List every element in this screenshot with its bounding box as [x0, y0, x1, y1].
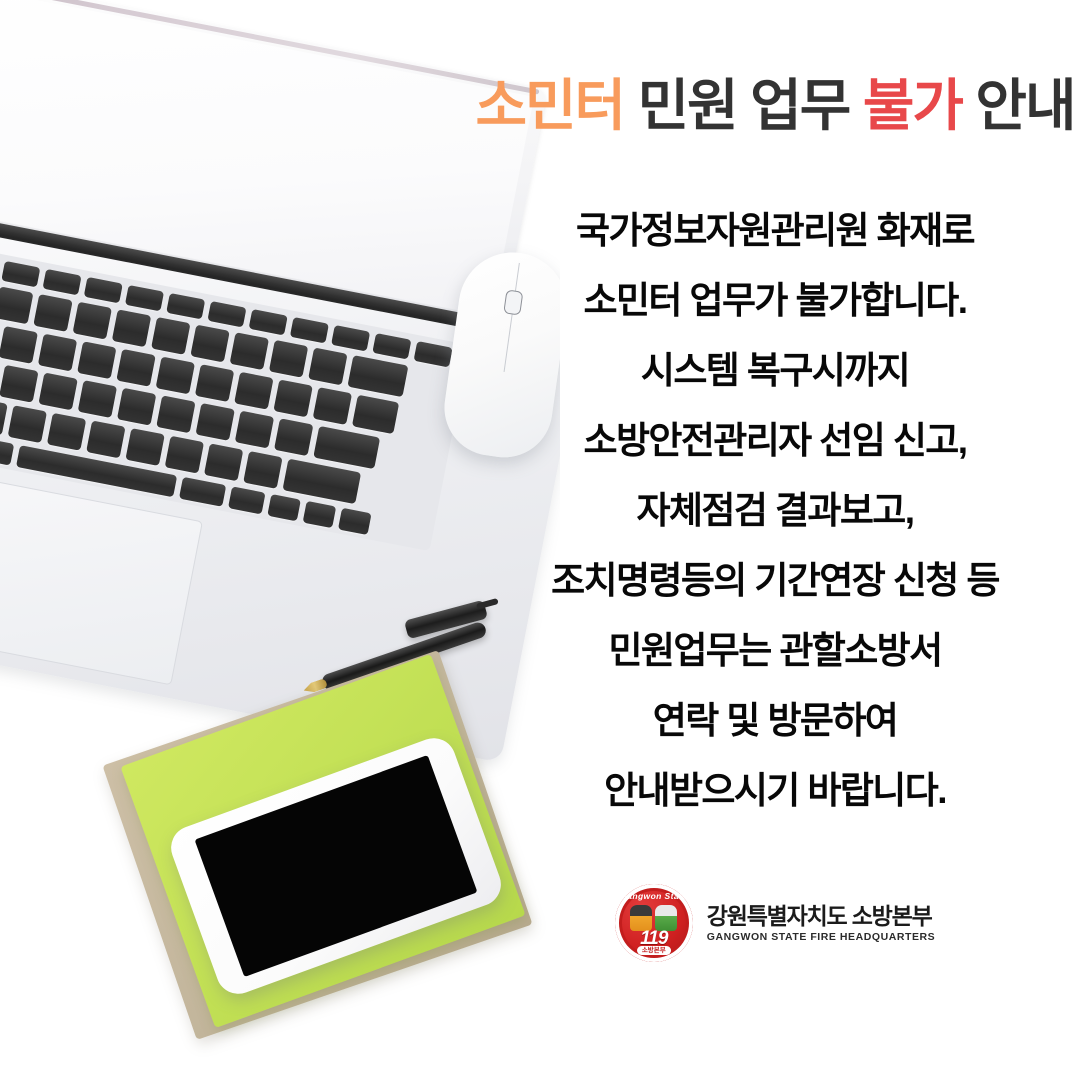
key — [125, 428, 164, 466]
agency-logo: Gangwon State 119 소방본부 강원특별자치도 소방본부 GANG… — [470, 884, 1080, 962]
fire-department-emblem-icon: Gangwon State 119 소방본부 — [615, 884, 693, 962]
title-segment-orange: 소민터 — [476, 74, 625, 137]
option-key — [228, 486, 266, 514]
key — [151, 317, 190, 355]
key — [165, 436, 204, 474]
agency-name-kr: 강원특별자치도 소방본부 — [707, 902, 935, 930]
key — [273, 379, 312, 417]
power-key — [414, 341, 453, 368]
key — [33, 294, 72, 332]
key — [249, 309, 288, 336]
key — [38, 372, 77, 410]
notice-line: 국가정보자원관리원 화재로 — [470, 196, 1080, 266]
notice-line: 소민터 업무가 불가합니다. — [470, 266, 1080, 336]
notice-line: 조치명령등의 기간연장 신청 등 — [470, 546, 1080, 616]
key — [125, 285, 164, 312]
agency-name-block: 강원특별자치도 소방본부 GANGWON STATE FIRE HEADQUAR… — [707, 902, 935, 945]
notice-line: 자체점검 결과보고, — [470, 476, 1080, 546]
key — [0, 398, 8, 436]
notice-line: 안내받으시기 바랍니다. — [470, 756, 1080, 826]
arrow-updown-key — [303, 501, 337, 528]
key — [166, 293, 205, 320]
shift-key — [282, 459, 361, 505]
arrow-left-key — [267, 494, 301, 521]
key — [156, 357, 195, 395]
key — [1, 261, 40, 288]
delete-key — [347, 355, 408, 397]
key — [86, 420, 125, 458]
notice-line: 시스템 복구시까지 — [470, 336, 1080, 406]
notice-line: 연락 및 방문하여 — [470, 686, 1080, 756]
key — [116, 349, 155, 387]
agency-name-en: GANGWON STATE FIRE HEADQUARTERS — [707, 930, 935, 945]
key — [38, 334, 77, 372]
key — [190, 325, 229, 363]
notice-line: 소방안전관리자 선임 신고, — [470, 406, 1080, 476]
key — [117, 388, 156, 426]
poster-canvas: 소민터 민원 업무 불가 안내 국가정보자원관리원 화재로 소민터 업무가 불가… — [0, 0, 1080, 1080]
key — [195, 364, 234, 402]
key — [195, 403, 234, 441]
key — [274, 418, 313, 456]
notice-line: 민원업무는 관할소방서 — [470, 616, 1080, 686]
page-title: 소민터 민원 업무 불가 안내 — [470, 78, 1080, 134]
key — [0, 365, 39, 403]
key — [204, 443, 243, 481]
key — [8, 405, 47, 443]
key — [313, 387, 352, 425]
key — [112, 309, 151, 347]
arrow-right-key — [338, 508, 372, 535]
key — [331, 325, 370, 352]
emblem-sub-text: 소방본부 — [637, 946, 671, 955]
key — [77, 341, 116, 379]
key — [0, 286, 33, 324]
key — [235, 411, 274, 449]
title-segment-dark-1: 민원 업무 — [624, 74, 863, 137]
emblem-arc-text: Gangwon State — [615, 891, 693, 901]
key — [290, 317, 329, 344]
trackpad — [0, 473, 203, 685]
key — [243, 451, 282, 489]
title-segment-dark-2: 안내 — [962, 74, 1075, 137]
key — [47, 413, 86, 451]
key — [230, 332, 269, 370]
key — [42, 269, 81, 296]
notice-body: 국가정보자원관리원 화재로 소민터 업무가 불가합니다. 시스템 복구시까지 소… — [470, 196, 1080, 826]
command-key — [179, 477, 226, 507]
command-key — [0, 436, 14, 466]
notice-panel: 소민터 민원 업무 불가 안내 국가정보자원관리원 화재로 소민터 업무가 불가… — [470, 0, 1080, 1080]
key — [308, 347, 347, 385]
key — [156, 395, 195, 433]
key — [84, 277, 123, 304]
key — [372, 333, 411, 360]
title-segment-red: 불가 — [863, 74, 962, 137]
key — [234, 372, 273, 410]
key — [73, 302, 112, 340]
key — [78, 380, 117, 418]
return-key — [313, 426, 380, 469]
key — [207, 301, 246, 328]
key — [0, 326, 38, 364]
key — [269, 340, 308, 378]
key — [352, 395, 399, 434]
